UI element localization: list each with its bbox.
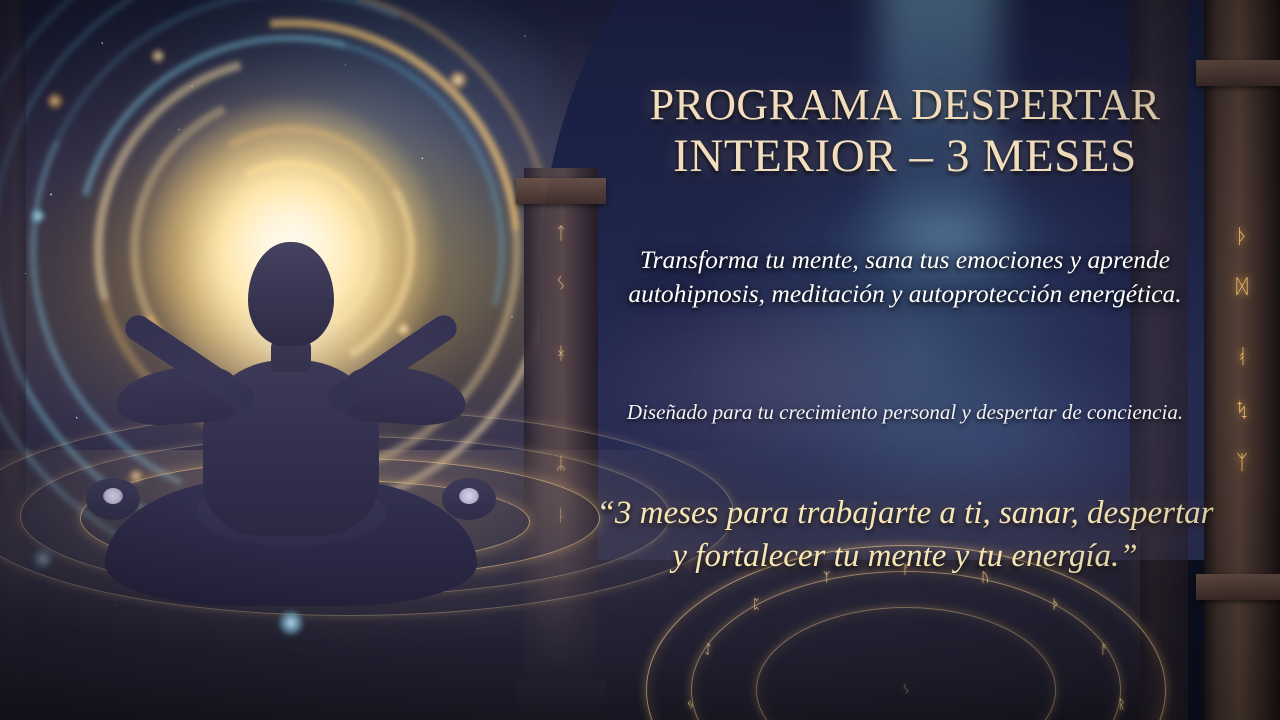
figure-hand-left-mudra	[86, 478, 140, 520]
meditating-figure	[96, 242, 486, 642]
text-panel: PROGRAMA DESPERTAR INTERIOR – 3 MESES Tr…	[585, 0, 1225, 720]
rune-right-5: ᛉ	[1236, 452, 1248, 472]
figure-head	[248, 242, 334, 346]
sub-paragraph: Diseñado para tu crecimiento personal y …	[605, 398, 1205, 427]
rune-right-4: ᛪ	[1236, 400, 1248, 420]
rune-right-3: ᚮ	[1236, 346, 1248, 366]
title-line-1: PROGRAMA DESPERTAR	[650, 80, 1161, 129]
figure-hand-right-mudra	[442, 478, 496, 520]
lead-paragraph: Transforma tu mente, sana tus emociones …	[593, 243, 1217, 311]
rune-left-1: ᛏ	[556, 226, 566, 243]
highlight-quote: “3 meses para trabajarte a ti, sanar, de…	[593, 492, 1217, 577]
figure-chakra-light	[278, 610, 304, 636]
poster-canvas: ᛏ ᛊ ᚼ ᛦ ᚿ ᚦ ᛞ ᚮ ᛪ ᛉ ᚠ ᚢ ᚦ ᚨ ᚱ ᚲ ᚷ	[0, 0, 1280, 720]
rune-right-1: ᚦ	[1236, 226, 1248, 246]
page-title: PROGRAMA DESPERTAR INTERIOR – 3 MESES	[585, 80, 1225, 183]
rune-left-2: ᛊ	[556, 276, 566, 293]
title-line-2: INTERIOR – 3 MESES	[585, 130, 1225, 183]
rune-left-3: ᚼ	[556, 346, 566, 363]
rune-right-2: ᛞ	[1236, 276, 1248, 296]
